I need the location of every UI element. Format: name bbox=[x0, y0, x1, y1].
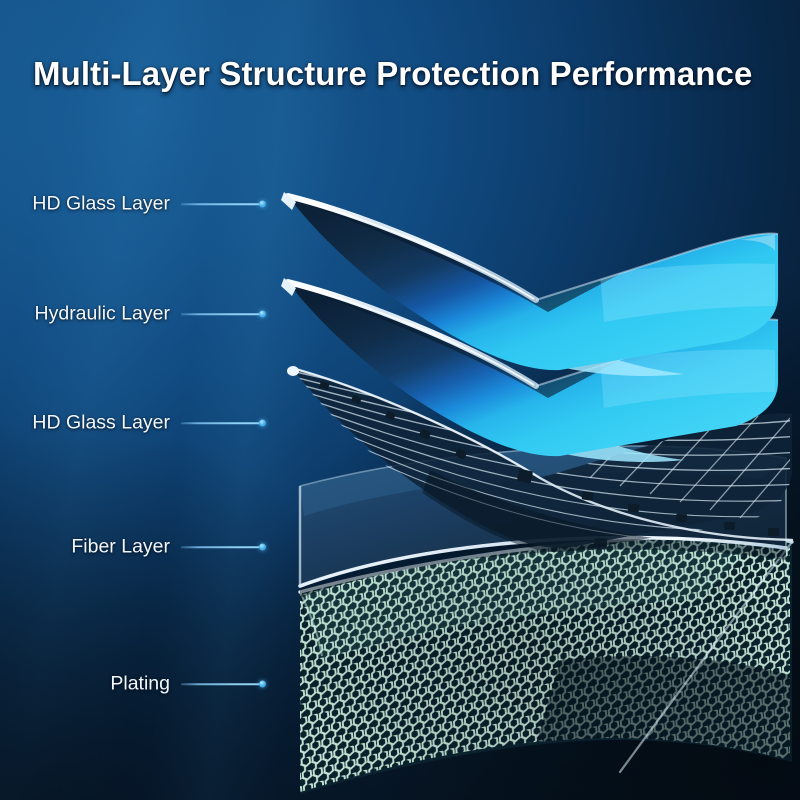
callout-label-text: Fiber Layer bbox=[71, 536, 170, 559]
callout-label-text: Hydraulic Layer bbox=[35, 303, 170, 326]
leader-line bbox=[181, 422, 259, 424]
leader-dot bbox=[259, 201, 266, 208]
leader-dot bbox=[259, 420, 266, 427]
leader-line bbox=[181, 546, 259, 548]
leader-dot bbox=[259, 311, 266, 318]
leader-line bbox=[181, 203, 259, 205]
callout-layer-plating[interactable]: Plating bbox=[0, 671, 170, 697]
leader-dot bbox=[259, 544, 266, 551]
callout-layer-hd-glass-mid[interactable]: HD Glass Layer bbox=[0, 410, 170, 436]
callout-layer-hd-glass-top[interactable]: HD Glass Layer bbox=[0, 191, 170, 217]
page-title: Multi-Layer Structure Protection Perform… bbox=[33, 56, 762, 94]
callout-layer-hydraulic[interactable]: Hydraulic Layer bbox=[0, 301, 170, 327]
callout-label-text: Plating bbox=[110, 673, 170, 696]
infographic-canvas: Multi-Layer Structure Protection Perform… bbox=[0, 0, 800, 800]
leader-line bbox=[181, 313, 259, 315]
leader-dot bbox=[259, 681, 266, 688]
leader-line bbox=[181, 683, 259, 685]
callout-label-text: HD Glass Layer bbox=[32, 193, 170, 216]
callout-layer-fiber[interactable]: Fiber Layer bbox=[0, 534, 170, 560]
callout-label-text: HD Glass Layer bbox=[32, 412, 170, 435]
